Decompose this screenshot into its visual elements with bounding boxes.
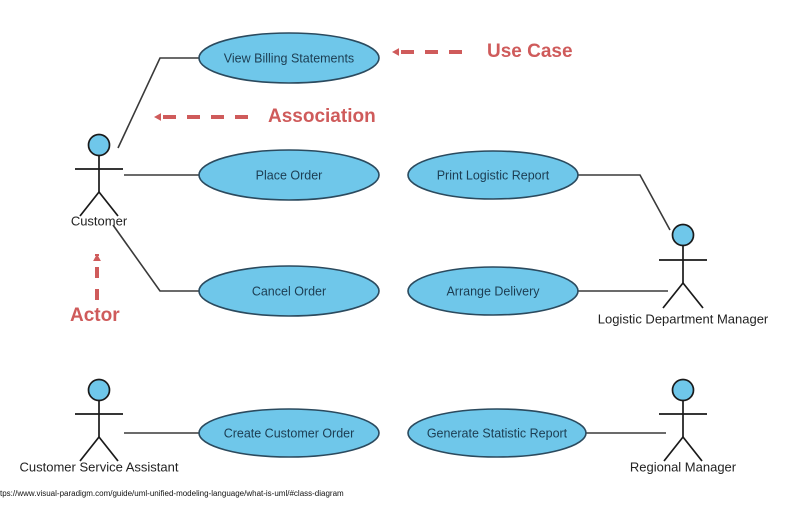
use-case-label: Print Logistic Report	[437, 168, 550, 182]
association-line-customer-cancel-order[interactable]	[113, 225, 199, 291]
annotation-use-case: Use Case	[392, 41, 573, 62]
actor-customer[interactable]: Customer	[71, 135, 128, 229]
actor-label: Regional Manager	[630, 459, 737, 474]
actor-regional-manager[interactable]: Regional Manager	[630, 380, 737, 475]
use-case-label: Generate Statistic Report	[427, 426, 568, 440]
actor-head-icon	[89, 135, 110, 156]
actor-logistic-department-manager[interactable]: Logistic Department Manager	[598, 225, 769, 327]
annotation-association: Association	[154, 106, 376, 127]
actor-label: Logistic Department Manager	[598, 311, 769, 326]
actor-head-icon	[673, 225, 694, 246]
actor-head-icon	[673, 380, 694, 401]
use-case-place-order[interactable]: Place Order	[199, 150, 379, 200]
use-case-label: View Billing Statements	[224, 51, 354, 65]
use-case-label: Create Customer Order	[224, 426, 355, 440]
use-case-cancel-order[interactable]: Cancel Order	[199, 266, 379, 316]
actor-legs-line	[664, 437, 702, 461]
use-case-label: Arrange Delivery	[446, 284, 540, 298]
use-case-arrange-delivery[interactable]: Arrange Delivery	[408, 267, 578, 315]
actor-label: Customer	[71, 213, 128, 228]
actor-label: Customer Service Assistant	[20, 459, 179, 474]
actor-legs-line	[80, 192, 118, 216]
annotation-actor: Actor	[70, 254, 120, 326]
use-case-label: Place Order	[256, 168, 323, 182]
association-line-customer-view-billing[interactable]	[118, 58, 199, 148]
annotation-label-association: Association	[268, 106, 376, 127]
diagram-svg: View Billing Statements Place Order Canc…	[0, 0, 795, 509]
association-lines	[113, 58, 670, 433]
annotation-label-actor: Actor	[70, 305, 120, 326]
use-case-label: Cancel Order	[252, 284, 326, 298]
actor-legs-line	[663, 283, 703, 308]
association-line-print-report-logistic-manager[interactable]	[578, 175, 670, 230]
source-url-text: tps://www.visual-paradigm.com/guide/uml-…	[0, 489, 344, 498]
annotation-label-use-case: Use Case	[487, 41, 573, 62]
use-case-create-customer-order[interactable]: Create Customer Order	[199, 409, 379, 457]
use-case-generate-statistic-report[interactable]: Generate Statistic Report	[408, 409, 586, 457]
actor-head-icon	[89, 380, 110, 401]
actor-legs-line	[80, 437, 118, 461]
use-case-view-billing-statements[interactable]: View Billing Statements	[199, 33, 379, 83]
actor-customer-service-assistant[interactable]: Customer Service Assistant	[20, 380, 179, 475]
use-case-diagram-canvas: View Billing Statements Place Order Canc…	[0, 0, 795, 509]
use-case-print-logistic-report[interactable]: Print Logistic Report	[408, 151, 578, 199]
